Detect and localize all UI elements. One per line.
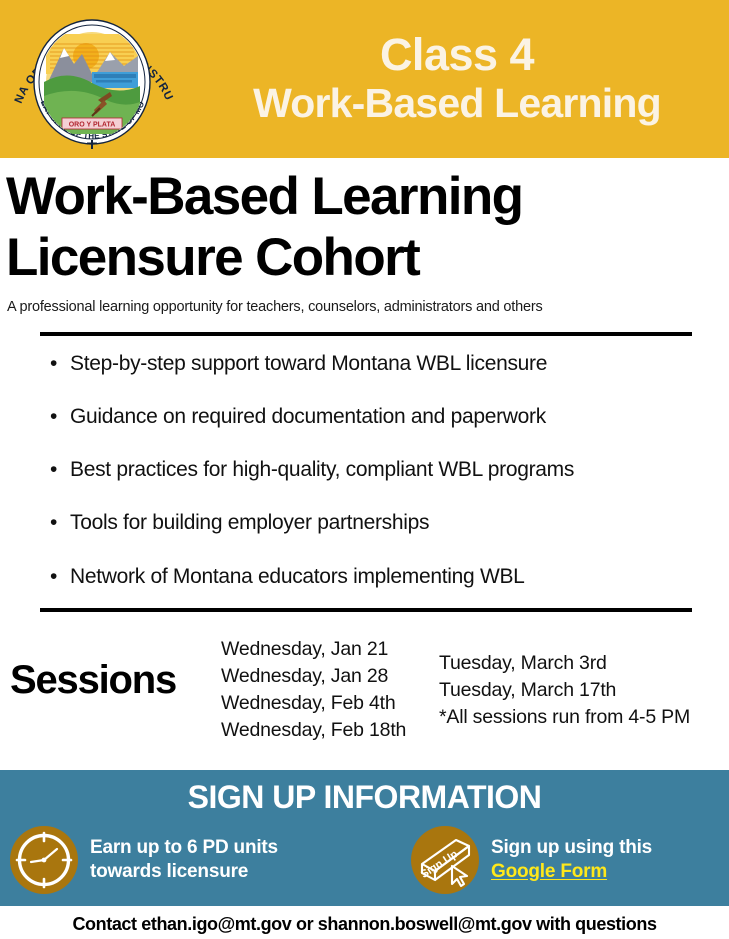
session-date: Tuesday, March 3rd (439, 650, 690, 677)
session-date: Wednesday, Feb 4th (221, 690, 406, 717)
svg-text:ORO Y PLATA: ORO Y PLATA (69, 122, 116, 129)
list-item: • Step-by-step support toward Montana WB… (48, 352, 708, 376)
header-subject-title: Work-Based Learning (253, 81, 661, 127)
divider-top (40, 332, 692, 336)
header-title-group: Class 4 Work-Based Learning (185, 0, 729, 158)
list-item: • Best practices for high-quality, compl… (48, 458, 708, 482)
page-title-line-2: Licensure Cohort (6, 228, 706, 289)
list-item: • Tools for building employer partnershi… (48, 511, 708, 535)
session-date: Wednesday, Feb 18th (221, 717, 406, 744)
sign-up-button-icon: Sign Up (411, 826, 479, 894)
google-form-feature: Sign Up Sign up using this Google Form (411, 826, 652, 894)
session-date: Wednesday, Jan 21 (221, 636, 406, 663)
session-date: Wednesday, Jan 28 (221, 663, 406, 690)
list-item-label: Step-by-step support toward Montana WBL … (70, 352, 547, 375)
bullet-icon: • (50, 405, 57, 429)
signup-band: SIGN UP INFORMATION Earn up to 6 PD unit… (0, 770, 729, 906)
bullet-icon: • (50, 511, 57, 535)
pd-units-text: Earn up to 6 PD units towards licensure (90, 836, 278, 884)
page-title-line-1: Work-Based Learning (6, 167, 706, 228)
list-item-label: Network of Montana educators implementin… (70, 565, 525, 588)
page-title: Work-Based Learning Licensure Cohort (6, 167, 706, 289)
pd-units-feature: Earn up to 6 PD units towards licensure (10, 826, 278, 894)
page-subtitle: A professional learning opportunity for … (7, 299, 717, 315)
benefits-list: • Step-by-step support toward Montana WB… (48, 352, 708, 618)
header-band: MONTANA OFFICE OF PUBLIC INSTRUCTION THE… (0, 0, 729, 158)
signup-heading: SIGN UP INFORMATION (0, 779, 729, 816)
sessions-dates-column-two: Tuesday, March 3rd Tuesday, March 17th *… (439, 650, 690, 731)
pd-units-line-2: towards licensure (90, 860, 278, 884)
list-item: • Network of Montana educators implement… (48, 565, 708, 589)
sessions-dates-column-one: Wednesday, Jan 21 Wednesday, Jan 28 Wedn… (221, 636, 406, 744)
session-time-note: *All sessions run from 4-5 PM (439, 704, 690, 731)
sessions-heading: Sessions (10, 658, 176, 703)
class-number-title: Class 4 (380, 31, 534, 78)
bullet-icon: • (50, 352, 57, 376)
google-form-text: Sign up using this Google Form (491, 836, 652, 884)
session-date: Tuesday, March 17th (439, 677, 690, 704)
google-form-link[interactable]: Google Form (491, 860, 607, 884)
bullet-icon: • (50, 565, 57, 589)
google-form-line-1: Sign up using this (491, 836, 652, 860)
bullet-icon: • (50, 458, 57, 482)
list-item-label: Guidance on required documentation and p… (70, 405, 546, 428)
divider-bottom (40, 608, 692, 612)
clock-icon (10, 826, 78, 894)
list-item-label: Best practices for high-quality, complia… (70, 458, 574, 481)
contact-line: Contact ethan.igo@mt.gov or shannon.bosw… (0, 914, 729, 935)
list-item-label: Tools for building employer partnerships (70, 511, 429, 534)
pd-units-line-1: Earn up to 6 PD units (90, 836, 278, 860)
list-item: • Guidance on required documentation and… (48, 405, 708, 429)
montana-opi-seal: MONTANA OFFICE OF PUBLIC INSTRUCTION THE… (6, 4, 178, 154)
